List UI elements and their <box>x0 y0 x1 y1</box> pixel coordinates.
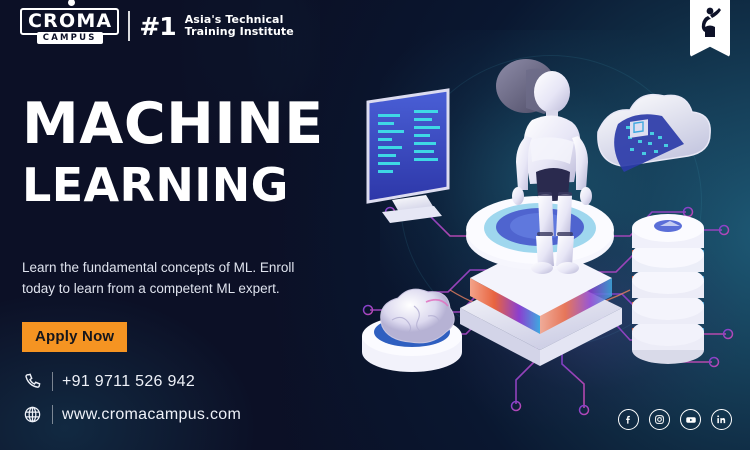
illustration-database <box>632 214 704 364</box>
youtube-icon[interactable] <box>680 409 701 430</box>
illustration-brain <box>362 289 462 372</box>
apply-now-button[interactable]: Apply Now <box>22 322 127 352</box>
phone-number: +91 9711 526 942 <box>62 373 195 391</box>
logo-mark: CROMA CAMPUS <box>20 8 119 44</box>
contact-divider <box>52 372 53 391</box>
illustration-cloud <box>598 95 710 172</box>
instagram-icon[interactable] <box>649 409 670 430</box>
marketing-banner: CROMA CAMPUS #1 Asia's Technical Trainin… <box>0 0 750 450</box>
social-links <box>618 409 732 430</box>
contact-website[interactable]: www.cromacampus.com <box>22 404 241 425</box>
background-glow-bottomleft <box>0 290 260 450</box>
facebook-icon[interactable] <box>618 409 639 430</box>
linkedin-icon[interactable] <box>711 409 732 430</box>
logo-croma-text: CROMA <box>20 8 119 35</box>
logo-tagline-line2: Training Institute <box>185 26 294 38</box>
globe-icon <box>22 404 43 425</box>
contact-divider <box>52 405 53 424</box>
logo-campus-text: CAMPUS <box>37 32 103 44</box>
logo-rank: #1 <box>139 14 175 39</box>
description-text: Learn the fundamental concepts of ML. En… <box>22 258 322 300</box>
website-url: www.cromacampus.com <box>62 406 241 424</box>
logo-tagline: Asia's Technical Training Institute <box>185 14 294 39</box>
page-title-line2: LEARNING <box>22 162 289 208</box>
contact-phone[interactable]: +91 9711 526 942 <box>22 371 195 392</box>
page-title-line1: MACHINE <box>22 96 324 153</box>
phone-icon <box>22 371 43 392</box>
award-figure-icon <box>699 5 721 39</box>
logo-divider <box>128 11 130 41</box>
brand-logo[interactable]: CROMA CAMPUS #1 Asia's Technical Trainin… <box>20 8 294 44</box>
illustration-circuit-traces <box>330 40 750 440</box>
illustration-monitor <box>368 90 448 223</box>
